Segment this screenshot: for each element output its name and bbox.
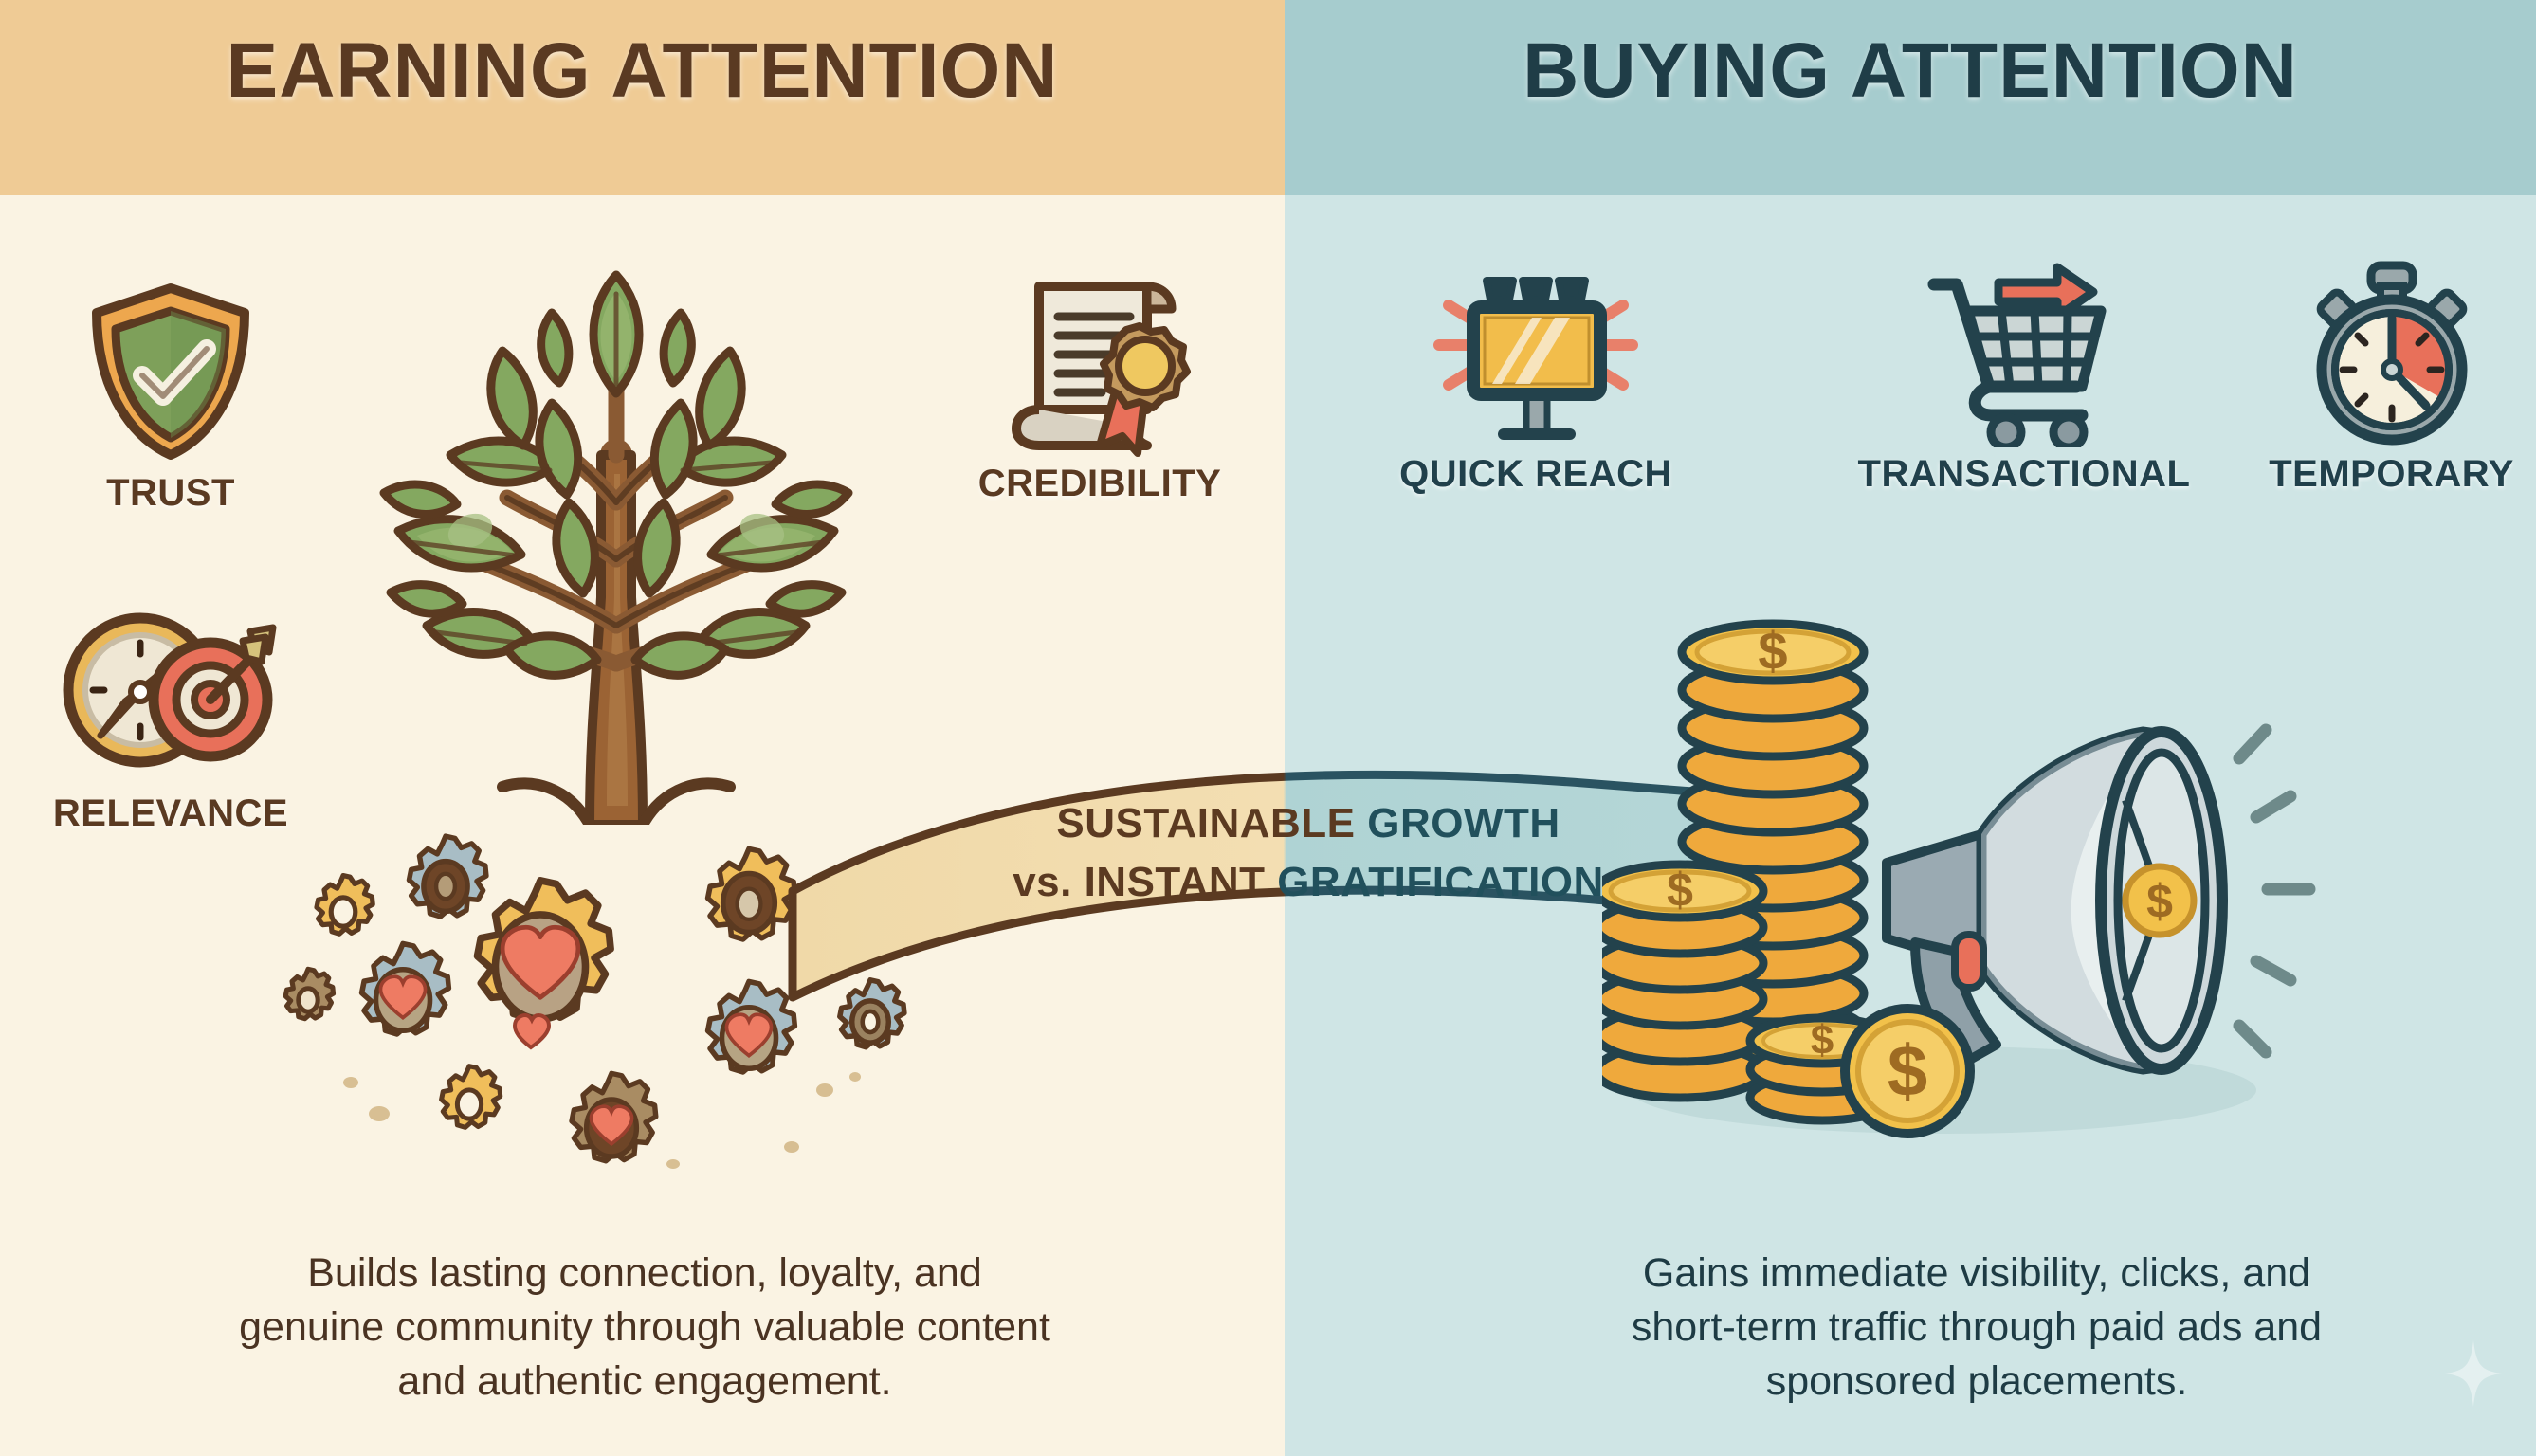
left-panel-header: EARNING ATTENTION [0,0,1285,195]
gear-small-gold-left [317,876,373,935]
left-panel-title: EARNING ATTENTION [0,27,1285,116]
sparkle-icon [2445,1340,2502,1407]
feature-temporary: TEMPORARY [2247,258,2536,496]
feature-credibility: CREDIBILITY [939,267,1261,505]
gear-small-gold-bottom [442,1066,501,1128]
left-caption-line-3: and authentic engagement. [57,1355,1232,1409]
megaphone-sound-lines [2239,730,2309,1052]
stopwatch-icon [2297,258,2487,447]
svg-text:$: $ [1667,864,1693,917]
gear-small-brown-left [285,969,333,1018]
compass-target-icon [57,597,284,787]
feature-label-relevance: RELEVANCE [9,792,332,835]
feature-transactional: TRANSACTIONAL [1801,258,2247,496]
feature-label-temporary: TEMPORARY [2247,453,2536,496]
svg-text:$: $ [1758,621,1787,681]
feature-label-trust: TRUST [28,472,313,515]
infographic-canvas: EARNING ATTENTION BUYING ATTENTION [0,0,2536,1456]
coin-standing: $ [1845,1009,1970,1134]
feature-label-credibility: CREDIBILITY [939,463,1261,505]
gear-brown-heart [572,1073,656,1160]
right-caption-line-3: sponsored placements. [1488,1355,2465,1409]
feature-relevance: RELEVANCE [9,597,332,835]
feature-label-transactional: TRANSACTIONAL [1801,453,2247,496]
coin-stack-left: $ [1602,864,1763,1098]
left-panel-caption: Builds lasting connection, loyalty, and … [57,1247,1232,1410]
shield-check-icon [76,277,265,466]
feature-label-quick-reach: QUICK REACH [1365,453,1706,496]
svg-text:$: $ [2146,875,2173,928]
gear-bluegray-hollow [410,836,486,917]
right-panel-header: BUYING ATTENTION [1285,0,2536,195]
gear-bluegray-heart-2 [708,981,795,1071]
shopping-cart-arrow-icon [1915,258,2133,447]
feature-quick-reach: QUICK REACH [1365,258,1706,496]
right-panel-title: BUYING ATTENTION [1285,27,2536,116]
billboard-icon [1422,258,1650,447]
feature-trust: TRUST [28,277,313,515]
floating-heart-icon [515,1015,549,1047]
growing-tree-icon [284,218,948,825]
right-panel-caption: Gains immediate visibility, clicks, and … [1488,1247,2465,1410]
gear-large-heart [478,881,611,1019]
left-caption-line-1: Builds lasting connection, loyalty, and [57,1247,1232,1301]
gear-gold-hollow [708,848,795,938]
left-caption-line-2: genuine community through valuable conte… [57,1301,1232,1355]
megaphone-icon: $ [1887,730,2309,1069]
right-caption-line-1: Gains immediate visibility, clicks, and [1488,1247,2465,1301]
gear-bluegray-heart [362,943,449,1033]
right-caption-line-2: short-term traffic through paid ads and [1488,1301,2465,1355]
certificate-seal-icon [995,267,1204,457]
coin-stacks-megaphone-icon: $ [1602,559,2351,1147]
svg-text:$: $ [1888,1031,1927,1112]
svg-text:$: $ [1811,1017,1834,1064]
